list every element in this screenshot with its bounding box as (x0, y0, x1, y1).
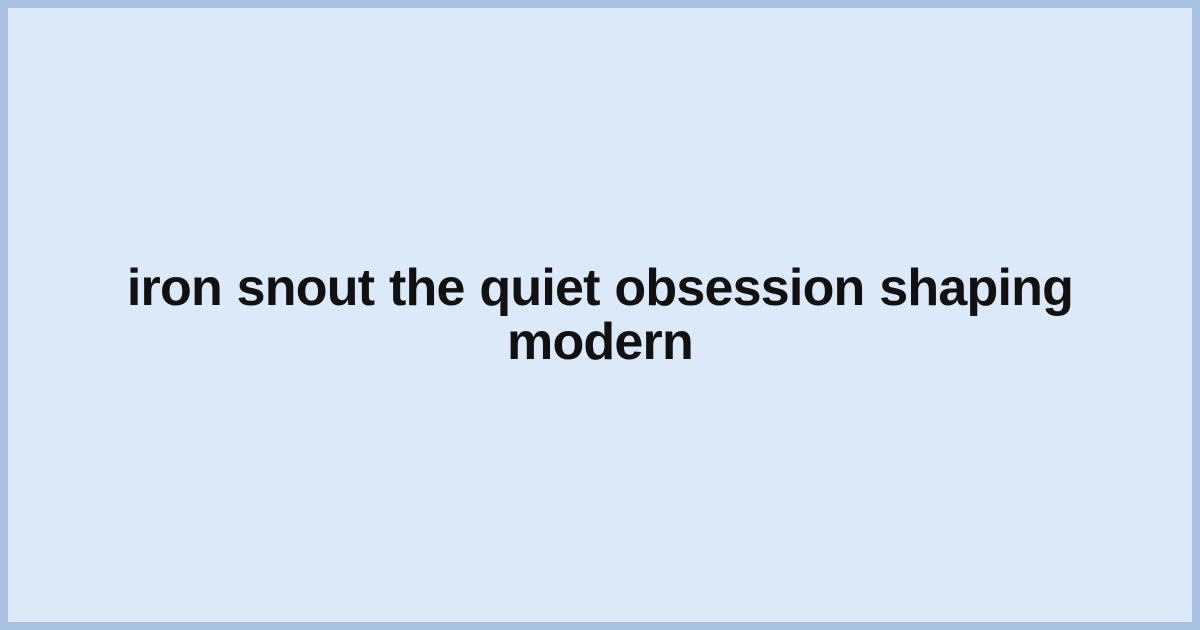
og-image-card: iron snout the quiet obsession shaping m… (0, 0, 1200, 630)
page-title: iron snout the quiet obsession shaping m… (96, 261, 1104, 369)
